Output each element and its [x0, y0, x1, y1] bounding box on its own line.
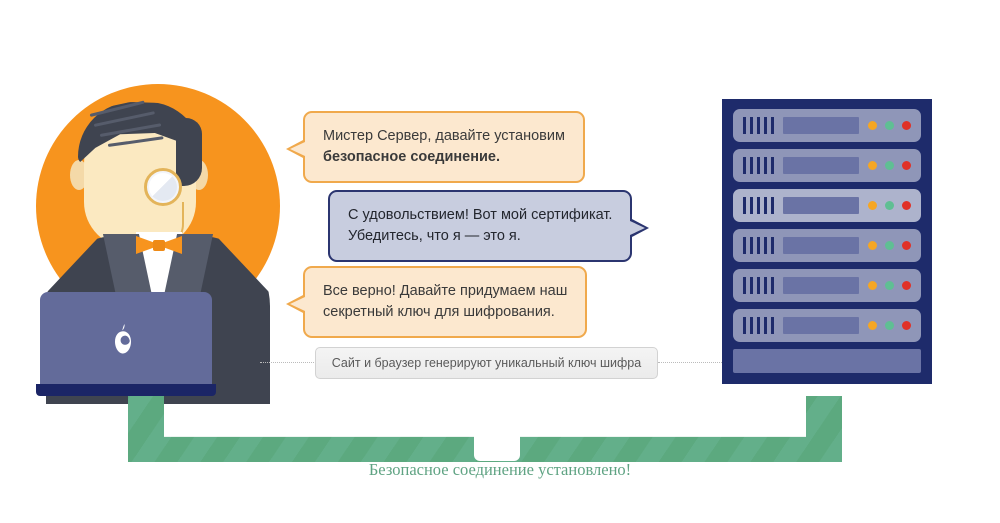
bubble-line: Убедитесь, что я — это я.	[348, 226, 612, 247]
bubble-line: С удовольствием! Вот мой сертификат.	[348, 205, 612, 226]
keygen-callout: Сайт и браузер генерируют уникальный клю…	[315, 347, 658, 379]
bubble-line: Мистер Сервер, давайте установим	[323, 126, 565, 147]
led-orange-icon	[868, 201, 877, 210]
dotted-connector-left	[260, 362, 316, 363]
led-green-icon	[885, 121, 894, 130]
server-vents-icon	[743, 157, 774, 174]
server-vents-icon	[743, 277, 774, 294]
led-red-icon	[902, 161, 911, 170]
server-panel	[783, 277, 859, 294]
bubble-line: Все верно! Давайте придумаем наш	[323, 281, 567, 302]
server-panel	[783, 117, 859, 134]
server-unit-active	[733, 189, 921, 222]
led-green-icon	[885, 281, 894, 290]
keygen-label: Сайт и браузер генерируют уникальный клю…	[332, 356, 641, 370]
led-red-icon	[902, 121, 911, 130]
server-led-group	[868, 281, 911, 290]
server-panel	[783, 157, 859, 174]
led-orange-icon	[868, 161, 877, 170]
server-unit	[733, 109, 921, 142]
server-led-group	[868, 241, 911, 250]
server-vents-icon	[743, 317, 774, 334]
server-unit	[733, 309, 921, 342]
server-led-group	[868, 321, 911, 330]
dotted-connector-right	[658, 362, 722, 363]
speech-bubble-server-1: С удовольствием! Вот мой сертификат. Убе…	[328, 190, 632, 262]
bowtie-icon	[136, 236, 182, 254]
led-green-icon	[885, 161, 894, 170]
client-figure	[18, 84, 278, 404]
server-panel	[783, 197, 859, 214]
led-orange-icon	[868, 241, 877, 250]
avatar-hair-side	[176, 118, 202, 186]
led-orange-icon	[868, 321, 877, 330]
bubble-line: секретный ключ для шифрования.	[323, 302, 567, 323]
server-vents-icon	[743, 117, 774, 134]
bowtie-wing-right	[163, 236, 182, 254]
led-red-icon	[902, 321, 911, 330]
server-led-group	[868, 201, 911, 210]
infographic-canvas: Мистер Сервер, давайте установим безопас…	[0, 0, 1000, 523]
server-vents-icon	[743, 237, 774, 254]
server-panel	[783, 237, 859, 254]
laptop-base	[36, 384, 216, 396]
speech-bubble-client-1: Мистер Сервер, давайте установим безопас…	[303, 111, 585, 183]
bubble-line-bold: безопасное соединение.	[323, 147, 565, 168]
server-vents-icon	[743, 197, 774, 214]
server-panel	[783, 317, 859, 334]
led-red-icon	[902, 241, 911, 250]
led-orange-icon	[868, 281, 877, 290]
server-led-group	[868, 121, 911, 130]
led-green-icon	[885, 321, 894, 330]
led-green-icon	[885, 241, 894, 250]
secure-connection-caption: Безопасное соединение установлено!	[0, 460, 1000, 480]
padlock-closed-icon	[466, 397, 528, 463]
led-red-icon	[902, 281, 911, 290]
server-unit	[733, 229, 921, 262]
pear-logo-icon	[112, 324, 134, 354]
led-red-icon	[902, 201, 911, 210]
server-unit	[733, 269, 921, 302]
led-orange-icon	[868, 121, 877, 130]
server-blank-slot	[733, 349, 921, 373]
server-led-group	[868, 161, 911, 170]
bowtie-knot	[153, 240, 165, 251]
led-green-icon	[885, 201, 894, 210]
server-rack-icon	[722, 99, 932, 384]
server-unit	[733, 149, 921, 182]
speech-bubble-client-2: Все верно! Давайте придумаем наш секретн…	[303, 266, 587, 338]
monocle-glare	[149, 173, 177, 201]
